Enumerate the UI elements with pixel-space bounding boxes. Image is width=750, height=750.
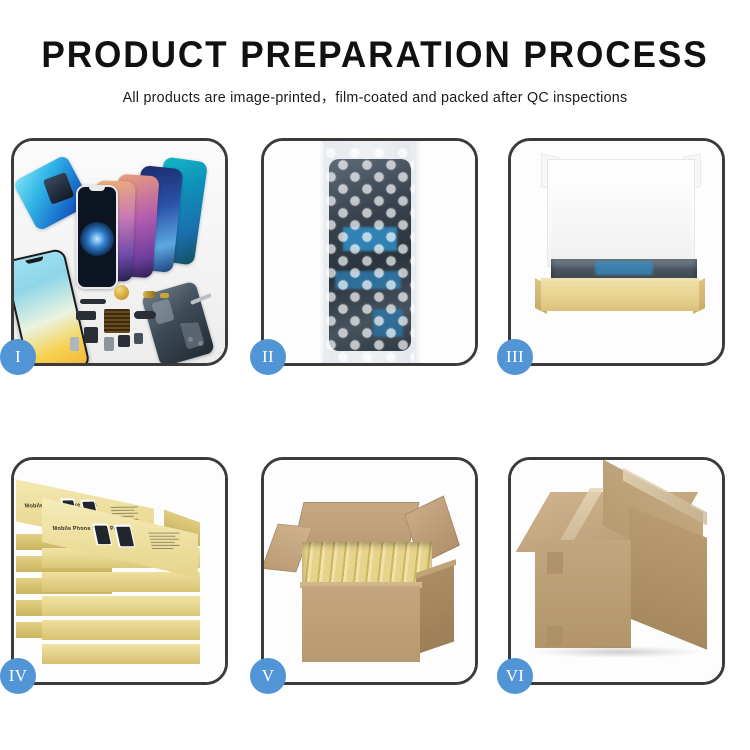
process-step-2: II — [261, 138, 478, 366]
bubble-pouch — [319, 141, 421, 363]
step-5-image — [264, 460, 475, 682]
box-front-panel — [541, 281, 699, 311]
header: PRODUCT PREPARATION PROCESS All products… — [0, 0, 750, 107]
phone-wallpaper-glow — [80, 222, 114, 256]
phone-screen-1 — [76, 185, 118, 289]
retail-box — [42, 596, 200, 616]
retail-box — [42, 644, 200, 664]
step-4-image: Mobile Phone Spare Parts — [14, 460, 225, 682]
carton-shadow — [531, 646, 705, 658]
retail-box-stack: Mobile Phone Spare Parts — [14, 460, 225, 682]
carton-flap-tab — [547, 552, 563, 574]
spare-part — [80, 299, 106, 304]
retail-box — [42, 572, 200, 592]
page-title: PRODUCT PREPARATION PROCESS — [19, 0, 732, 73]
step-badge-6: VI — [497, 658, 533, 694]
process-step-5: V — [261, 457, 478, 685]
process-step-3: III — [508, 138, 725, 366]
spare-part — [76, 311, 96, 320]
spare-part — [134, 311, 156, 319]
spare-part — [143, 291, 156, 298]
spare-part — [180, 323, 196, 327]
spare-part — [70, 337, 79, 351]
step-1-image — [14, 141, 225, 363]
spare-part — [198, 341, 203, 346]
process-row-1: I II — [11, 138, 739, 366]
carton-flap-tab — [547, 626, 563, 646]
spare-part — [84, 327, 98, 343]
carton-side-panel — [416, 565, 454, 654]
phone-notch — [89, 187, 105, 191]
spare-part — [114, 285, 129, 300]
spare-part — [104, 337, 114, 351]
box-art-screen — [114, 525, 136, 548]
spare-part — [160, 293, 169, 298]
process-step-4: Mobile Phone Spare Parts — [11, 457, 228, 685]
carton-front-panel — [302, 586, 420, 662]
step-badge-4: IV — [0, 658, 36, 694]
box-spec-lines — [148, 533, 185, 551]
pouch-seam-left — [319, 141, 326, 363]
foam-lining — [551, 183, 691, 263]
process-step-grid: I II — [11, 138, 739, 685]
spare-part — [118, 335, 130, 347]
step-badge-2: II — [250, 339, 286, 375]
process-step-1: I — [11, 138, 228, 366]
product-preparation-infographic: PRODUCT PREPARATION PROCESS All products… — [0, 0, 750, 750]
spare-part — [188, 337, 193, 342]
step-badge-5: V — [250, 658, 286, 694]
bubble-texture — [325, 147, 415, 363]
process-step-6: VI — [508, 457, 725, 685]
pouch-seam-right — [414, 141, 421, 363]
step-3-image — [511, 141, 722, 363]
retail-box — [42, 620, 200, 640]
step-6-image — [511, 460, 722, 682]
step-badge-1: I — [0, 339, 36, 375]
spare-part — [134, 333, 143, 344]
step-2-image — [264, 141, 475, 363]
process-row-2: Mobile Phone Spare Parts — [11, 457, 739, 685]
spare-part — [104, 309, 130, 333]
page-subtitle: All products are image-printed，film-coat… — [0, 73, 750, 107]
step-badge-3: III — [497, 339, 533, 375]
